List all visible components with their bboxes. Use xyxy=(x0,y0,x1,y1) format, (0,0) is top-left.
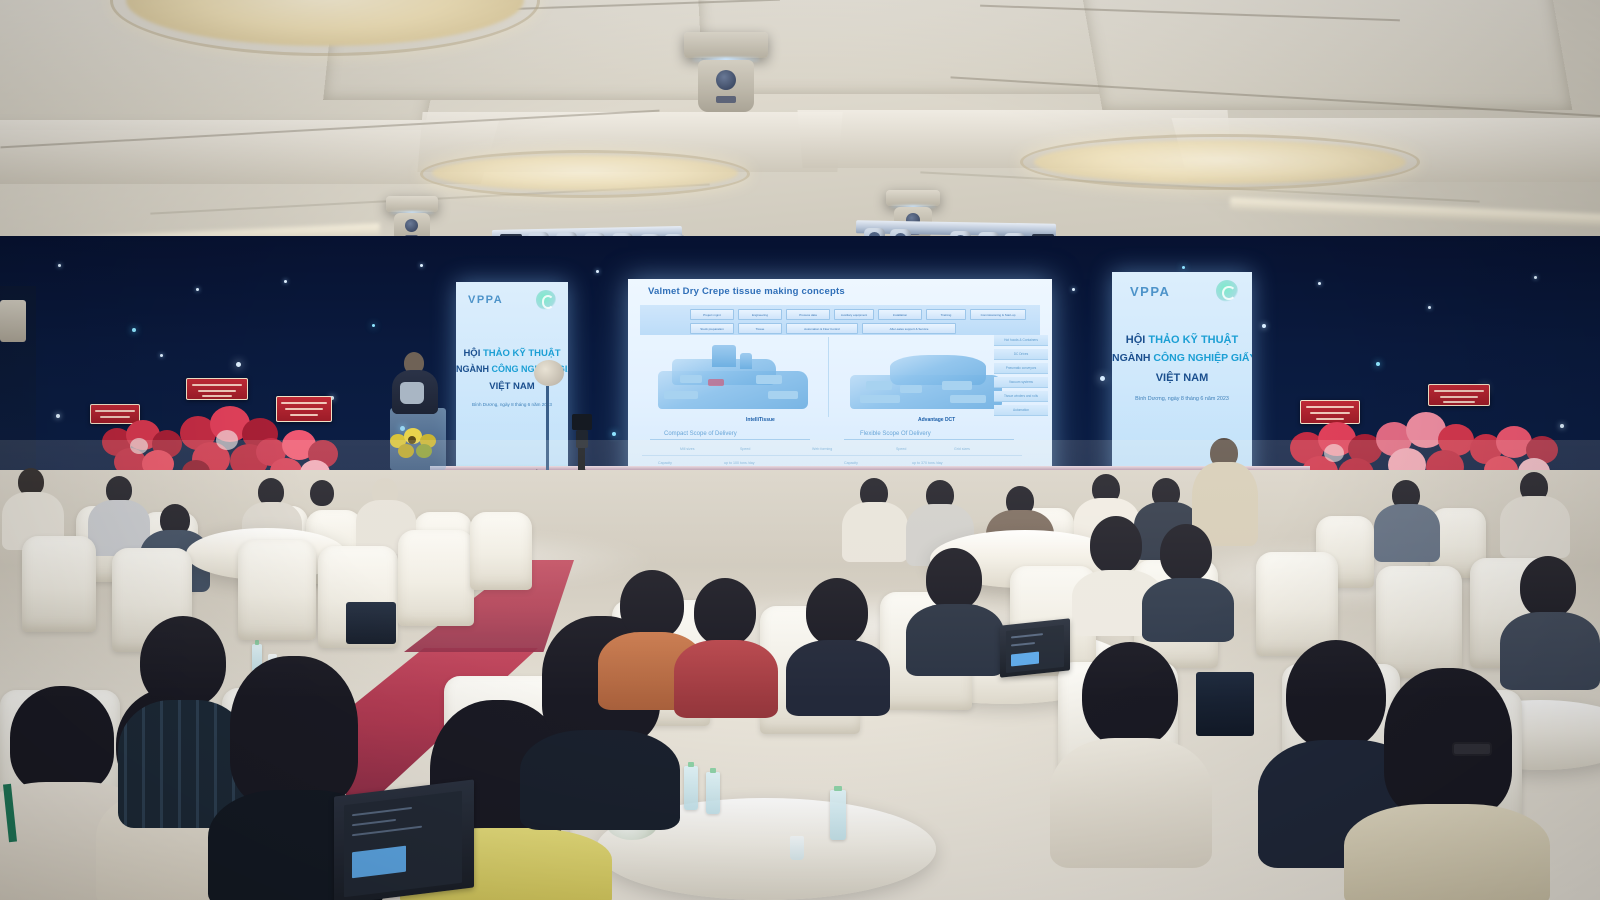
process-box: Training xyxy=(926,309,966,320)
handbag xyxy=(1196,672,1254,736)
eyeglasses xyxy=(1452,742,1492,756)
vppa-circle-icon xyxy=(536,290,556,310)
process-box: Installation xyxy=(878,309,922,320)
machine-illustration-intellitissue xyxy=(656,345,816,415)
machine-illustration-advantage-dct xyxy=(846,345,1008,415)
process-box: Auxiliary equipment xyxy=(834,309,874,320)
process-box: Process data xyxy=(786,309,830,320)
process-box: Automation & Flow Control xyxy=(786,323,858,334)
spec-column-header: Web forming xyxy=(812,447,832,451)
congratulation-sign xyxy=(186,378,248,400)
spec-column-header: Speed xyxy=(740,447,750,451)
side-list-item: Pneumatic conveyors xyxy=(994,363,1048,374)
spec-column-header: Speed xyxy=(896,447,906,451)
water-bottle xyxy=(830,790,846,840)
process-box: After-sales support & Service xyxy=(862,323,956,334)
spec-label: Capacity xyxy=(658,461,672,465)
slide-side-list: Hot hoods & Containers DC Drives Pneumat… xyxy=(994,335,1050,465)
concept-name-right: Advantage DCT xyxy=(918,417,955,423)
drinking-glass xyxy=(790,836,804,860)
process-box: Tissue xyxy=(738,323,782,334)
spec-label: Capacity xyxy=(844,461,858,465)
podium-flower-arrangement xyxy=(388,424,444,460)
side-list-item: Vacuum systems xyxy=(994,377,1048,388)
spec-column-header: Grid sizes xyxy=(954,447,970,451)
vppa-circle-icon xyxy=(1216,280,1238,302)
handbag xyxy=(346,602,396,644)
scope-label-left: Compact Scope of Delivery xyxy=(664,431,737,437)
banner-line-1: HỘI THẢO KỸ THUẬT xyxy=(456,348,568,359)
ceiling xyxy=(0,0,1600,270)
side-list-item: Automation xyxy=(994,405,1048,416)
spec-value: up to 100 tons /day xyxy=(724,461,755,465)
conference-photo: VPPA HỘI THẢO KỸ THUẬT NGÀNH CÔNG NGHIỆP… xyxy=(0,0,1600,900)
water-bottle xyxy=(706,772,720,814)
side-list-item: Hot hoods & Containers xyxy=(994,335,1048,346)
banner-subtitle: Bình Dương, ngày 8 tháng 6 năm 2023 xyxy=(456,402,568,407)
vppa-logo-text: VPPA xyxy=(1130,284,1170,299)
spec-column-header: Mill sizes xyxy=(680,447,695,451)
presentation-screen: Valmet Dry Crepe tissue making concepts … xyxy=(628,279,1052,495)
water-bottle xyxy=(684,766,698,810)
side-list-item: DC Drives xyxy=(994,349,1048,360)
congratulation-sign xyxy=(1428,384,1490,406)
slide-title: Valmet Dry Crepe tissue making concepts xyxy=(648,286,845,297)
process-box: Engineering xyxy=(738,309,782,320)
side-list-item: Tissue winders and rolls xyxy=(994,391,1048,402)
wall-speaker-left xyxy=(0,300,26,342)
banner-line-2: NGÀNH CÔNG NGHIỆP GIẤY xyxy=(1112,352,1252,364)
banner-line-3: VIỆT NAM xyxy=(1112,372,1252,384)
process-box: Project mgmt xyxy=(690,309,734,320)
banner-subtitle: Bình Dương, ngày 8 tháng 6 năm 2023 xyxy=(1112,396,1252,402)
spec-value: up to 370 tons /day xyxy=(912,461,943,465)
banner-line-1: HỘI THẢO KỸ THUẬT xyxy=(1112,334,1252,346)
concept-name-left: IntelliTissue xyxy=(746,417,775,423)
process-box: Commissioning & Start-up xyxy=(970,309,1026,320)
process-box: Stock preparation xyxy=(690,323,734,334)
scope-label-right: Flexible Scope Of Delivery xyxy=(860,431,931,437)
vppa-logo-text: VPPA xyxy=(468,294,503,306)
